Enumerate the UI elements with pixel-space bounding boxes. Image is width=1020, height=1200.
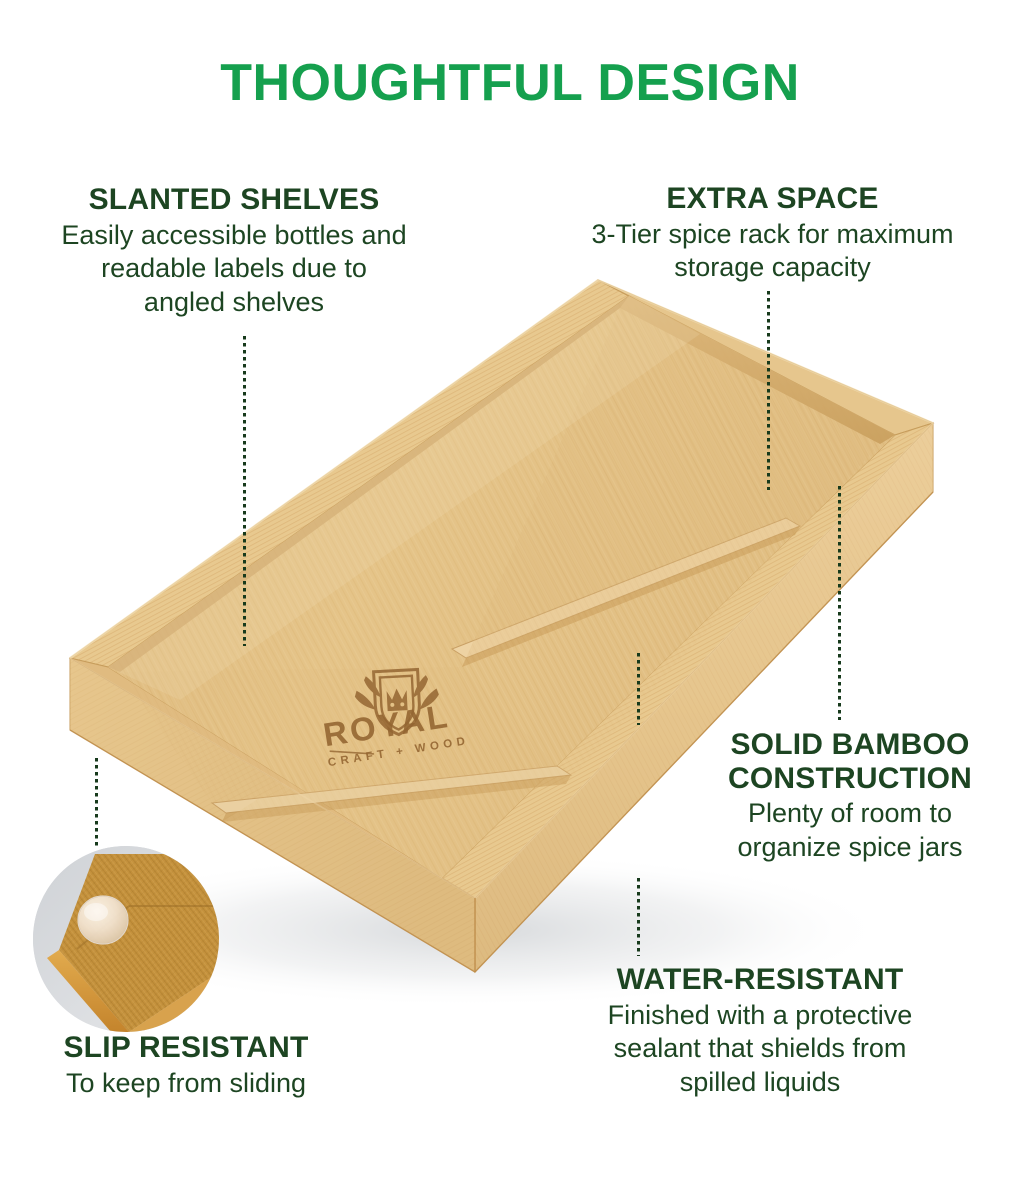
leader-extra-space [767, 291, 770, 490]
feature-heading-line: CONSTRUCTION [690, 762, 1010, 796]
infographic-canvas: THOUGHTFUL DESIGN [0, 0, 1020, 1200]
feature-water-resistant-body: Finished with a protective sealant that … [540, 999, 980, 1099]
feature-line: To keep from sliding [0, 1067, 372, 1100]
leader-slip-resistant [95, 758, 98, 846]
feature-slanted-shelves-body: Easily accessible bottles and readable l… [0, 219, 468, 319]
feature-solid-bamboo-construction: SOLID BAMBOO CONSTRUCTION Plenty of room… [690, 728, 1010, 864]
feature-slanted-shelves: SLANTED SHELVES Easily accessible bottle… [0, 183, 468, 319]
leader-water-resistant [637, 878, 640, 956]
feature-line: Finished with a protective [540, 999, 980, 1032]
feature-line: Easily accessible bottles and [0, 219, 468, 252]
feature-slip-resistant: SLIP RESISTANT To keep from sliding [0, 1031, 372, 1100]
leader-solid-bamboo [838, 486, 841, 720]
feature-solid-bamboo-body: Plenty of room to organize spice jars [690, 797, 1010, 864]
feature-line: angled shelves [0, 286, 468, 319]
feature-line: readable labels due to [0, 252, 468, 285]
feature-line: spilled liquids [540, 1066, 980, 1099]
feature-line: storage capacity [530, 251, 1015, 284]
feature-extra-space-body: 3-Tier spice rack for maximum storage ca… [530, 218, 1015, 285]
feature-water-resistant-heading: WATER-RESISTANT [540, 963, 980, 997]
feature-extra-space: EXTRA SPACE 3-Tier spice rack for maximu… [530, 182, 1015, 285]
feature-slip-resistant-heading: SLIP RESISTANT [0, 1031, 372, 1065]
feature-line: sealant that shields from [540, 1032, 980, 1065]
feature-extra-space-heading: EXTRA SPACE [530, 182, 1015, 216]
feature-slanted-shelves-heading: SLANTED SHELVES [0, 183, 468, 217]
leader-construction [637, 653, 640, 725]
leader-slanted-shelves [243, 336, 246, 646]
feature-line: organize spice jars [690, 831, 1010, 864]
feature-line: Plenty of room to [690, 797, 1010, 830]
feature-slip-resistant-body: To keep from sliding [0, 1067, 372, 1100]
feature-water-resistant: WATER-RESISTANT Finished with a protecti… [540, 963, 980, 1099]
feature-heading-line: SOLID BAMBOO [690, 728, 1010, 762]
page-title: THOUGHTFUL DESIGN [0, 57, 1020, 109]
feature-solid-bamboo-heading: SOLID BAMBOO CONSTRUCTION [690, 728, 1010, 795]
slip-resistant-inset-photo [33, 846, 219, 1032]
feature-line: 3-Tier spice rack for maximum [530, 218, 1015, 251]
